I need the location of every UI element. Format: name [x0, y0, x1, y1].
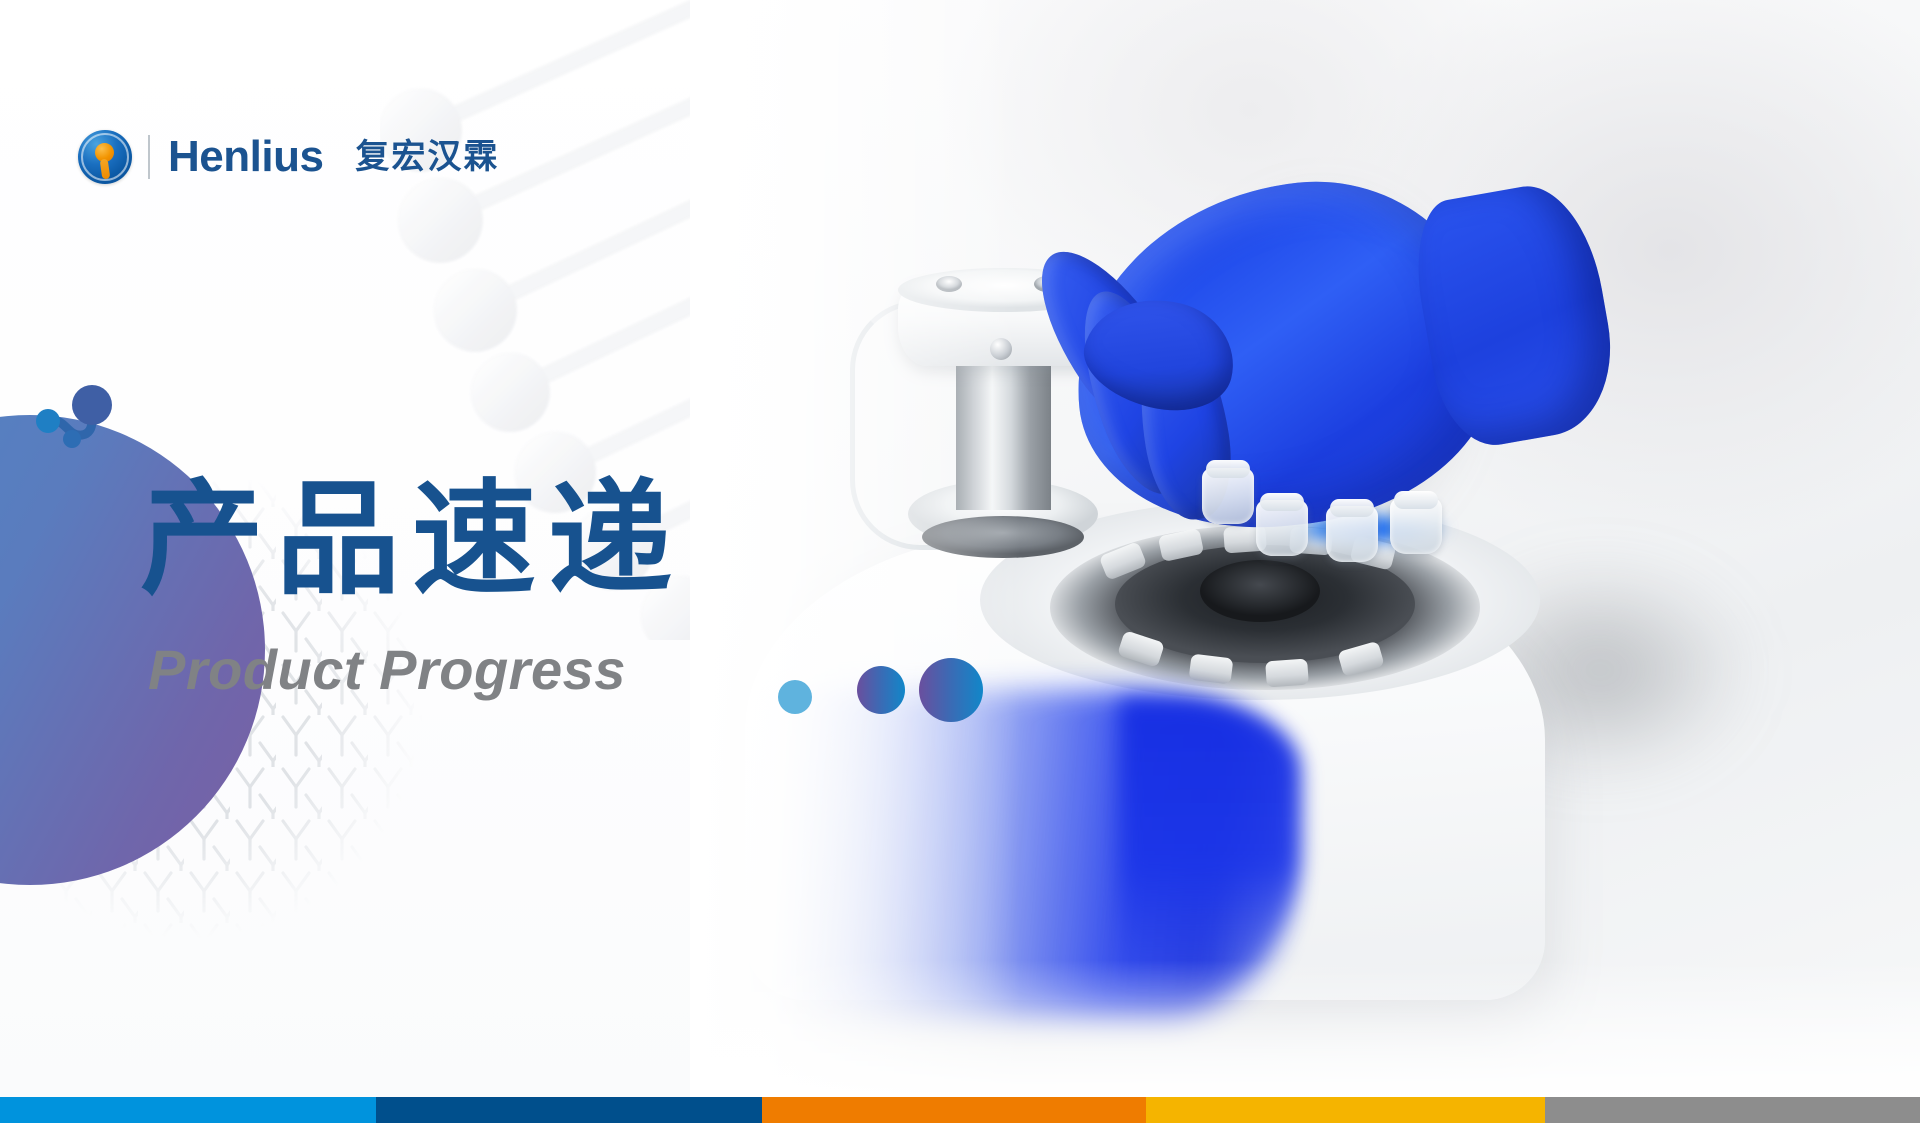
- logo-divider: [148, 135, 150, 179]
- laboratory-centrifuge-photo: [690, 0, 1920, 1100]
- brand-name-cn: 复宏汉霖: [355, 140, 499, 174]
- brand-logo[interactable]: Henlius 复宏汉霖: [78, 126, 499, 188]
- molecule-icon-mid: [855, 650, 985, 730]
- bottom-bar-segment-gray: [1545, 1097, 1920, 1123]
- bottom-bar-segment-orange: [762, 1097, 1146, 1123]
- bottom-color-bar: [0, 1097, 1920, 1123]
- molecule-icon-top: [20, 385, 140, 470]
- bottom-bar-segment-light-blue: [0, 1097, 376, 1123]
- bottom-bar-segment-yellow: [1146, 1097, 1545, 1123]
- henlius-logo-icon: [78, 130, 132, 184]
- bottom-bar-segment-dark-blue: [376, 1097, 762, 1123]
- page-title: 产品速递: [140, 478, 684, 602]
- slide-canvas: Henlius 复宏汉霖 产品速递 Product Progress: [0, 0, 1920, 1123]
- brand-name-en: Henlius: [168, 135, 323, 179]
- page-subtitle: Product Progress: [148, 642, 626, 698]
- accent-dot-decoration: [778, 680, 812, 714]
